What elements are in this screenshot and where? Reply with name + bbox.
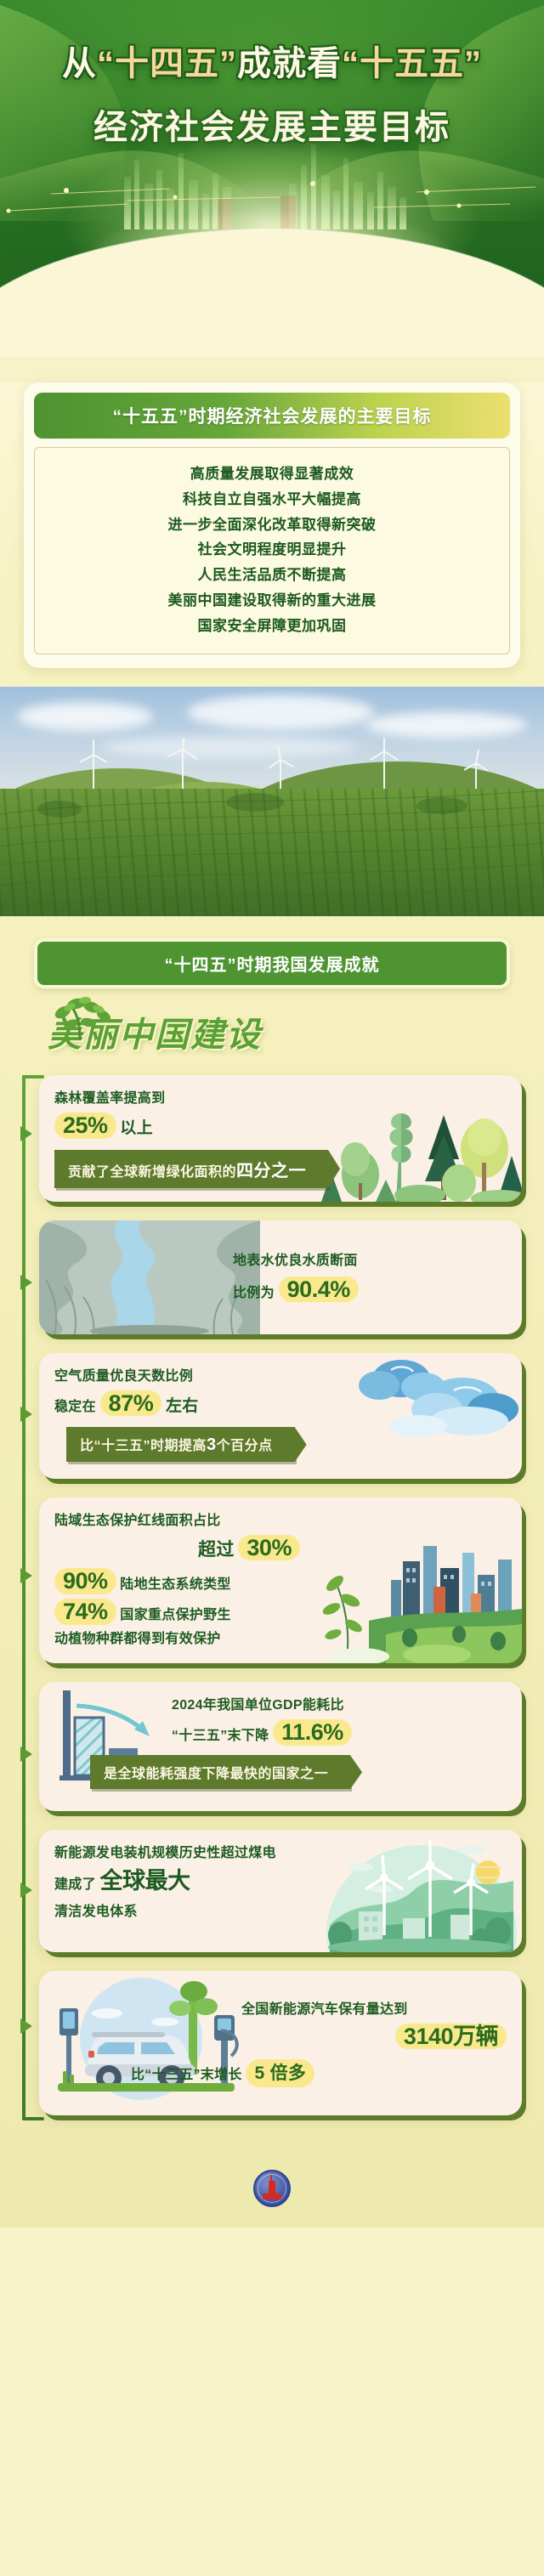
stat-suffix: 左右 [166,1397,199,1415]
objectives-card: “十五五”时期经济社会发展的主要目标 高质量发展取得显著成效 科技自立自强水平大… [24,382,520,668]
stat-value: 87% [100,1390,162,1416]
stat-value-3: 74% [54,1599,116,1624]
objectives-list: 高质量发展取得显著成效 科技自立自强水平大幅提高 进一步全面深化改革取得新突破 … [34,447,510,654]
hero-title-line2: 经济社会发展主要目标 [0,99,544,149]
card-line: 全国新能源汽车保有量达到 [241,2000,507,2020]
stat-card-clean-power-content: 新能源发电装机规模历史性超过煤电 建成了 全球最大 清洁发电体系 [39,1830,522,1952]
objective-item: 科技自立自强水平大幅提高 [42,487,502,512]
landscape-photo [0,687,544,916]
stat-card-ev-content: 全国新能源汽车保有量达到 3140万辆 比“十三五”末增长 5 倍多 [39,1971,522,2115]
banner-suffix: 个百分点 [217,1439,273,1453]
stat-card-ecology-content: 陆域生态保护红线面积占比 超过 30% 90% 陆地生态系统类型 74% 国家重… [39,1497,522,1664]
banner-highlight: 四分之一 [236,1162,306,1180]
objective-item: 进一步全面深化改革取得新突破 [42,512,502,538]
hero-title-group: 从“十四五”成就看“十五五” 经济社会发展主要目标 [0,44,544,149]
objective-item: 美丽中国建设取得新的重大进展 [42,588,502,614]
timeline-marker [20,1568,32,1583]
hero-title-line1: 从“十四五”成就看“十五五” [0,44,544,84]
footer [0,2149,544,2228]
stat-value: 90.4% [279,1277,359,1302]
hero-banner: 从“十四五”成就看“十五五” 经济社会发展主要目标 [0,0,544,357]
card-stat-line: 超过 30% [54,1535,507,1564]
hero-title-q2: “十五五” [342,45,482,82]
banner-prefix: 比“十三五”时期提高 [80,1439,207,1453]
stat-prefix: “十三五”末下降 [172,1729,269,1743]
stat-card-clean-power: 新能源发电装机规模历史性超过煤电 建成了 全球最大 清洁发电体系 [39,1830,522,1952]
timeline-rail [22,1075,25,2120]
stat-suffix: 以上 [120,1119,153,1137]
banner-prefix: 比“十三五”末增长 [131,2068,242,2082]
card-stat-line: 25% 以上 [54,1112,507,1141]
hero-title-q1: “十四五” [97,45,237,82]
leaves-icon [48,995,141,1050]
card-banner: 贡献了全球新增绿化面积的四分之一 [54,1150,328,1188]
stat-card-forest-content: 森林覆盖率提高到 25% 以上 贡献了全球新增绿化面积的四分之一 [39,1075,522,1202]
card-stat-line: 3140万辆 [241,2024,507,2051]
card-stat-line: “十三五”末下降 11.6% [172,1719,507,1747]
stat-card-forest: 森林覆盖率提高到 25% 以上 贡献了全球新增绿化面积的四分之一 [39,1075,522,1202]
hero-title-p1: 从 [62,45,97,82]
section-header-achievements: “十四五”时期我国发展成就 [34,938,510,988]
cloud-shape [187,695,374,729]
page-body: “十五五”时期经济社会发展的主要目标 高质量发展取得显著成效 科技自立自强水平大… [0,382,544,2228]
objective-item: 社会文明程度明显提升 [42,537,502,563]
stat-card-energy-content: 2024年我国单位GDP能耗比 “十三五”末下降 11.6% 是全球能耗强度下降… [39,1682,522,1811]
timeline-marker [20,2018,32,2034]
card-line: 新能源发电装机规模历史性超过煤电 [54,1843,507,1864]
stat-card-energy-intensity: 2024年我国单位GDP能耗比 “十三五”末下降 11.6% 是全球能耗强度下降… [39,1682,522,1811]
stat-value: 3140万辆 [395,2024,507,2049]
stat-prefix: 比例为 [233,1286,275,1300]
stat-value-2: 90% [54,1568,116,1594]
stat-value: 11.6% [273,1719,352,1745]
stat-value: 25% [54,1112,116,1138]
stat-card-air: 空气质量优良天数比例 稳定在 87% 左右 比“十三五”时期提高3个百分点 [39,1353,522,1479]
card-line-last: 动植物种群都得到有效保护 [54,1629,507,1650]
card-stat-line: 建成了 全球最大 [54,1869,507,1895]
stat-text-3: 国家重点保护野生 [120,1608,230,1622]
stat-card-ev: 全国新能源汽车保有量达到 3140万辆 比“十三五”末增长 5 倍多 [39,1971,522,2115]
stat-prefix: 超过 [198,1540,235,1560]
banner-highlight: 5 倍多 [246,2059,314,2088]
card-line: 森林覆盖率提高到 [54,1089,507,1109]
card-line: 空气质量优良天数比例 [54,1367,507,1387]
achievements-timeline: 森林覆盖率提高到 25% 以上 贡献了全球新增绿化面积的四分之一 [0,1075,544,2149]
timeline-marker [20,1407,32,1422]
banner-prefix: 是全球能耗强度下降最快的国家之一 [104,1767,328,1781]
timeline-marker [20,1882,32,1898]
card-line: 2024年我国单位GDP能耗比 [172,1696,507,1716]
objectives-card-header: “十五五”时期经济社会发展的主要目标 [34,393,510,439]
stat-value: 30% [238,1535,300,1560]
stat-text-2: 陆地生态系统类型 [120,1577,230,1592]
card-line: 陆域生态保护红线面积占比 [54,1511,507,1531]
stat-card-water-content: 地表水优良水质断面 比例为 90.4% [39,1220,522,1334]
stat-value: 全球最大 [100,1868,190,1894]
card-stat-line-2: 比“十三五”末增长 5 倍多 [131,2059,507,2088]
card-stat-line-3: 74% 国家重点保护野生 [54,1599,507,1626]
stat-card-ecology: 陆域生态保护红线面积占比 超过 30% 90% 陆地生态系统类型 74% 国家重… [39,1497,522,1664]
xinhua-logo-icon [253,2170,291,2207]
objective-item: 人民生活品质不断提高 [42,563,502,588]
card-line-3: 清洁发电体系 [54,1902,507,1922]
stat-card-water: 地表水优良水质断面 比例为 90.4% [39,1220,522,1334]
banner-highlight: 3 [207,1435,217,1454]
banner-prefix: 贡献了全球新增绿化面积的 [68,1165,236,1180]
card-stat-line-2: 90% 陆地生态系统类型 [54,1568,507,1595]
card-line: 地表水优良水质断面 [233,1251,507,1271]
timeline-marker [20,1747,32,1762]
card-banner: 比“十三五”时期提高3个百分点 [66,1427,295,1462]
timeline-marker [20,1275,32,1290]
stat-prefix: 建成了 [54,1877,96,1892]
hero-title-mid: 成就看 [237,45,342,82]
timeline-marker [20,1126,32,1141]
card-stat-line: 稳定在 87% 左右 [54,1390,507,1419]
objective-item: 高质量发展取得显著成效 [42,461,502,487]
card-stat-line: 比例为 90.4% [233,1277,507,1304]
objective-item: 国家安全屏障更加巩固 [42,614,502,639]
card-banner: 是全球能耗强度下降最快的国家之一 [90,1755,350,1789]
field-rows [0,780,544,916]
stat-prefix: 稳定在 [54,1400,96,1414]
logo-tower-mark [269,2181,275,2200]
decorative-subtitle: 美丽中国建设 [48,1007,544,1068]
stat-card-air-content: 空气质量优良天数比例 稳定在 87% 左右 比“十三五”时期提高3个百分点 [39,1353,522,1479]
